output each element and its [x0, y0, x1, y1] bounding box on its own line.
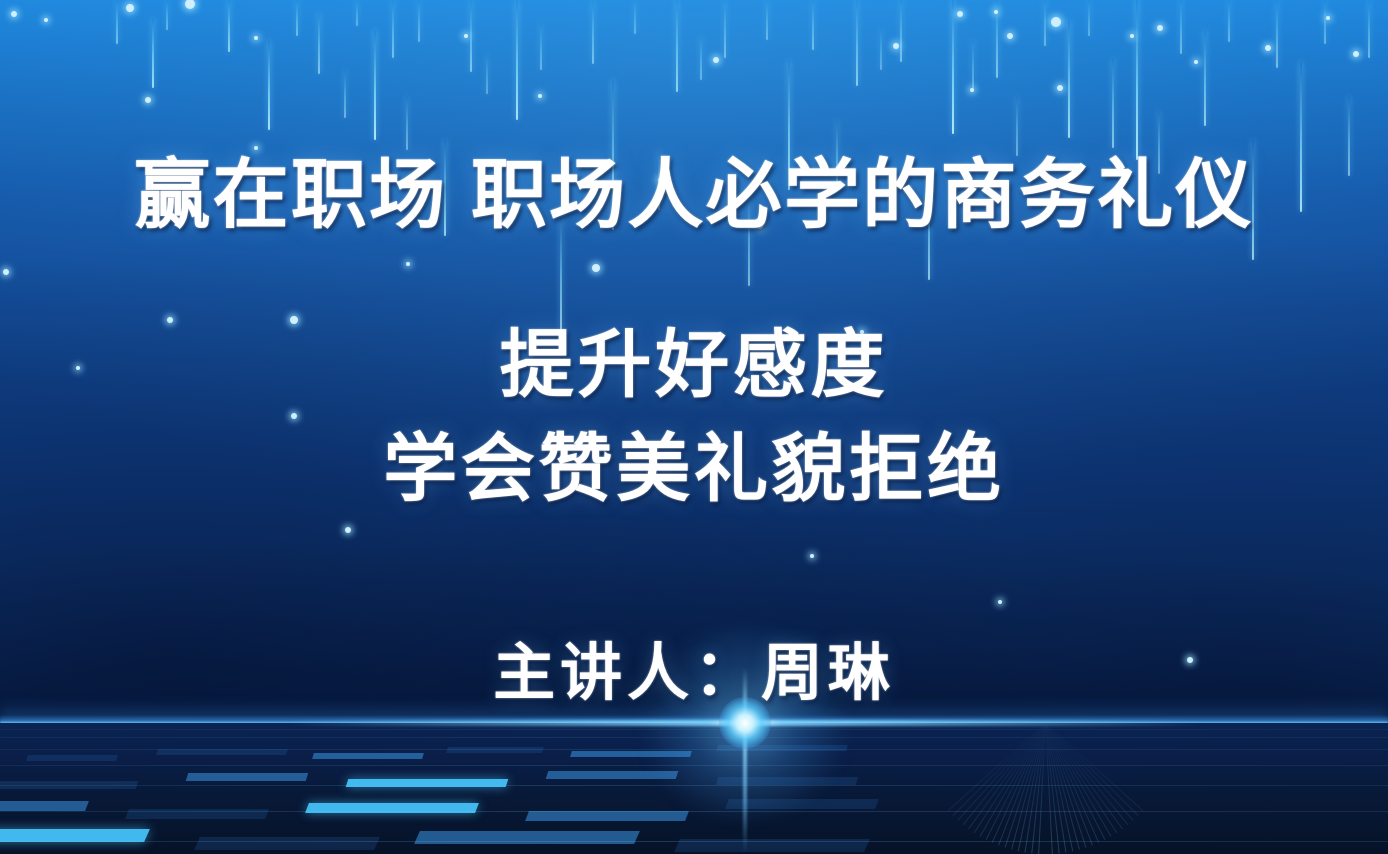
text-layer: 赢在职场 职场人必学的商务礼仪 提升好感度 学会赞美礼貌拒绝 主讲人：周琳 [0, 0, 1388, 854]
course-subtitle-line-1: 提升好感度 [0, 328, 1388, 402]
presenter-name: 主讲人：周琳 [0, 622, 1388, 712]
title-card-slide: 赢在职场 职场人必学的商务礼仪 提升好感度 学会赞美礼貌拒绝 主讲人：周琳 [0, 0, 1388, 854]
course-headline: 赢在职场 职场人必学的商务礼仪 [0, 158, 1388, 234]
course-subtitle-line-2: 学会赞美礼貌拒绝 [0, 432, 1388, 506]
